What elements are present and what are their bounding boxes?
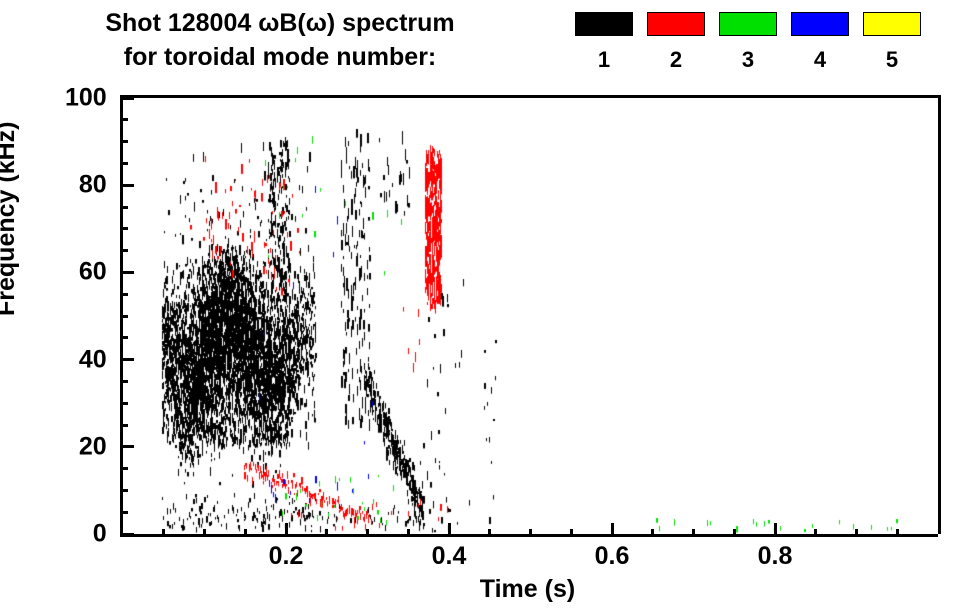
- x-tick-label-0.4: 0.4: [432, 542, 467, 571]
- plot-area: 0.20.40.60.8020406080100: [120, 98, 938, 537]
- legend-item-5: 5: [863, 12, 921, 72]
- y-tick-70: [120, 227, 128, 230]
- x-tick-0.3: [366, 529, 369, 537]
- x-tick-0.05: [162, 529, 165, 537]
- y-tick-label-20: 20: [79, 432, 107, 461]
- y-axis-title: Frequency (kHz): [0, 122, 21, 316]
- x-tick-0.5: [529, 529, 532, 537]
- y-tick-40: [120, 358, 134, 361]
- y-tick-100: [120, 97, 134, 100]
- x-tick-label-0.8: 0.8: [758, 542, 793, 571]
- y-tick-25: [120, 424, 128, 427]
- y-tick-label-80: 80: [79, 171, 107, 200]
- x-tick-0.35: [407, 529, 410, 537]
- x-tick-0.25: [325, 529, 328, 537]
- y-tick-10: [120, 489, 128, 492]
- x-axis-title: Time (s): [120, 575, 935, 604]
- x-tick-0.2: [285, 523, 288, 537]
- legend-swatch-4: [791, 12, 849, 36]
- y-tick-60: [120, 271, 134, 274]
- chart-title: Shot 128004 ωB(ω) spectrum for toroidal …: [0, 6, 560, 74]
- axis-right-line: [938, 95, 941, 534]
- legend-item-2: 2: [647, 12, 705, 72]
- y-tick-80: [120, 184, 134, 187]
- x-tick-0.45: [488, 529, 491, 537]
- x-tick-0.55: [570, 529, 573, 537]
- legend-label-2: 2: [670, 48, 682, 72]
- y-tick-20: [120, 445, 134, 448]
- x-tick-0.4: [448, 523, 451, 537]
- y-tick-15: [120, 467, 128, 470]
- x-tick-0.15: [244, 529, 247, 537]
- x-tick-0.95: [896, 529, 899, 537]
- legend-label-5: 5: [886, 48, 898, 72]
- chart-title-line-1: Shot 128004 ωB(ω) spectrum: [0, 6, 560, 40]
- x-tick-0.85: [814, 529, 817, 537]
- x-tick-label-0.2: 0.2: [269, 542, 304, 571]
- y-tick-5: [120, 511, 128, 514]
- y-tick-label-0: 0: [93, 520, 107, 549]
- x-tick-0.75: [733, 529, 736, 537]
- legend-swatch-3: [719, 12, 777, 36]
- x-tick-0.65: [651, 529, 654, 537]
- legend-item-3: 3: [719, 12, 777, 72]
- y-tick-label-40: 40: [79, 345, 107, 374]
- y-tick-30: [120, 402, 128, 405]
- y-tick-45: [120, 336, 128, 339]
- y-tick-35: [120, 380, 128, 383]
- x-tick-0.1: [203, 529, 206, 537]
- y-tick-55: [120, 293, 128, 296]
- y-tick-85: [120, 162, 128, 165]
- legend: 12345: [575, 12, 935, 72]
- y-tick-label-100: 100: [65, 84, 107, 113]
- y-tick-95: [120, 118, 128, 121]
- y-tick-90: [120, 140, 128, 143]
- spectrogram-points: [123, 98, 938, 534]
- legend-label-3: 3: [742, 48, 754, 72]
- y-tick-0: [120, 533, 134, 536]
- chart-title-line-2: for toroidal mode number:: [0, 40, 560, 74]
- y-tick-65: [120, 249, 128, 252]
- x-tick-0.6: [611, 523, 614, 537]
- legend-label-4: 4: [814, 48, 826, 72]
- legend-swatch-5: [863, 12, 921, 36]
- y-tick-label-60: 60: [79, 258, 107, 287]
- x-tick-0.7: [692, 529, 695, 537]
- legend-label-1: 1: [598, 48, 610, 72]
- spectrogram-canvas-wrap: [123, 98, 938, 534]
- legend-swatch-1: [575, 12, 633, 36]
- x-tick-0.8: [774, 523, 777, 537]
- legend-item-4: 4: [791, 12, 849, 72]
- x-tick-label-0.6: 0.6: [595, 542, 630, 571]
- x-tick-0.9: [855, 529, 858, 537]
- legend-item-1: 1: [575, 12, 633, 72]
- y-tick-50: [120, 315, 128, 318]
- y-tick-75: [120, 206, 128, 209]
- legend-swatch-2: [647, 12, 705, 36]
